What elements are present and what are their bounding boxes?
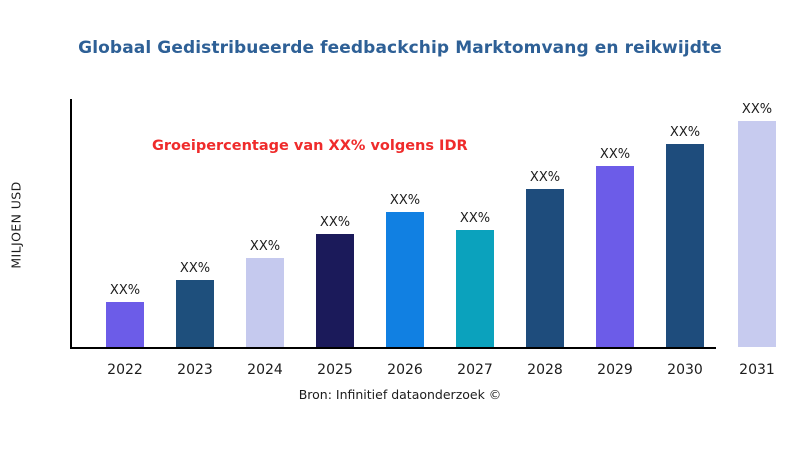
bar-group[interactable]: XX% xyxy=(246,258,284,347)
x-tick-2024: 2024 xyxy=(225,362,305,378)
x-tick-2022: 2022 xyxy=(85,362,165,378)
bar-2029[interactable] xyxy=(596,166,634,347)
bar-value-label: XX% xyxy=(460,211,490,226)
y-axis-label: MILJOEN USD xyxy=(9,181,24,268)
x-tick-2028: 2028 xyxy=(505,362,585,378)
bar-2025[interactable] xyxy=(316,234,354,347)
bar-2027[interactable] xyxy=(456,230,494,347)
x-tick-2023: 2023 xyxy=(155,362,235,378)
bar-2031[interactable] xyxy=(738,121,776,347)
x-tick-2029: 2029 xyxy=(575,362,655,378)
x-axis-line xyxy=(70,347,716,349)
x-tick-2025: 2025 xyxy=(295,362,375,378)
bar-group[interactable]: XX% xyxy=(596,166,634,347)
bar-value-label: XX% xyxy=(180,261,210,276)
bar-2028[interactable] xyxy=(526,189,564,347)
bar-group[interactable]: XX% xyxy=(666,144,704,347)
bar-value-label: XX% xyxy=(390,193,420,208)
plot-area: Groeipercentage van XX% volgens IDR XX%X… xyxy=(70,99,784,349)
bar-2024[interactable] xyxy=(246,258,284,347)
bar-value-label: XX% xyxy=(320,215,350,230)
x-tick-2026: 2026 xyxy=(365,362,445,378)
source-note: Bron: Infinitief dataonderzoek © xyxy=(0,387,800,402)
bar-group[interactable]: XX% xyxy=(316,234,354,347)
bar-value-label: XX% xyxy=(250,239,280,254)
growth-annotation: Groeipercentage van XX% volgens IDR xyxy=(152,138,468,154)
bar-value-label: XX% xyxy=(110,283,140,298)
x-tick-2030: 2030 xyxy=(645,362,725,378)
bar-2023[interactable] xyxy=(176,280,214,347)
bar-group[interactable]: XX% xyxy=(176,280,214,347)
bar-2022[interactable] xyxy=(106,302,144,347)
bar-value-label: XX% xyxy=(530,170,560,185)
bar-2030[interactable] xyxy=(666,144,704,347)
chart-title: Globaal Gedistribueerde feedbackchip Mar… xyxy=(0,38,800,58)
bar-group[interactable]: XX% xyxy=(738,121,776,347)
chart-container: Globaal Gedistribueerde feedbackchip Mar… xyxy=(0,0,800,450)
bar-group[interactable]: XX% xyxy=(106,302,144,347)
bar-value-label: XX% xyxy=(742,102,772,117)
bar-group[interactable]: XX% xyxy=(456,230,494,347)
x-tick-2031: 2031 xyxy=(717,362,797,378)
bar-2026[interactable] xyxy=(386,212,424,347)
bar-group[interactable]: XX% xyxy=(386,212,424,347)
bar-group[interactable]: XX% xyxy=(526,189,564,347)
bar-value-label: XX% xyxy=(600,147,630,162)
y-axis-line xyxy=(70,99,72,349)
x-tick-2027: 2027 xyxy=(435,362,515,378)
bar-value-label: XX% xyxy=(670,125,700,140)
